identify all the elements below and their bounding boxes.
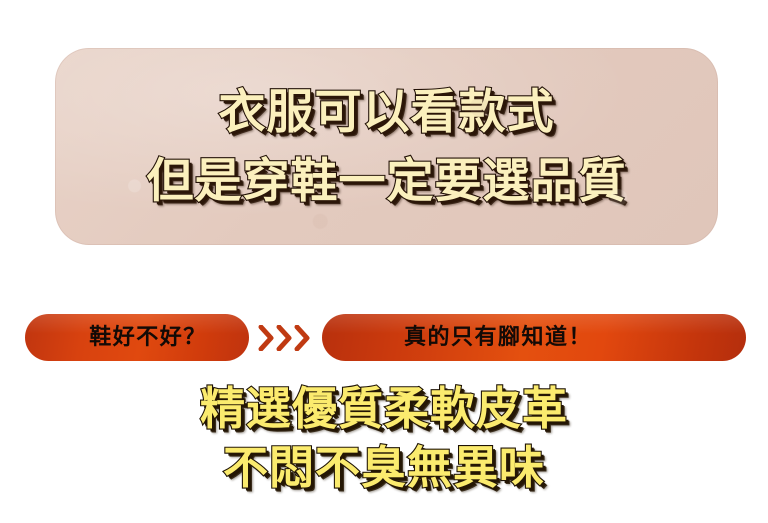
- badge-row: 鞋好不好？ 真的只有腳知道！: [0, 314, 768, 364]
- badge-answer-label: 真的只有腳知道！: [404, 327, 592, 349]
- chevron-right-icon: [294, 325, 311, 351]
- chevron-right-icon: [276, 325, 293, 351]
- footer-text-block: 精選優質柔軟皮革 不悶不臭無異味: [0, 386, 768, 490]
- hero-headline-line-1: 衣服可以看款式: [219, 89, 555, 136]
- hero-panel: 衣服可以看款式 但是穿鞋一定要選品質: [55, 48, 718, 245]
- chevron-arrows-group: [258, 322, 316, 354]
- badge-question: 鞋好不好？: [25, 314, 249, 361]
- badge-question-label: 鞋好不好？: [89, 327, 207, 349]
- hero-headline-line-2: 但是穿鞋一定要選品質: [147, 158, 627, 205]
- badge-answer: 真的只有腳知道！: [322, 314, 746, 361]
- chevron-right-icon: [258, 325, 275, 351]
- hero-text-block: 衣服可以看款式 但是穿鞋一定要選品質: [55, 48, 718, 245]
- promo-banner: 衣服可以看款式 但是穿鞋一定要選品質 鞋好不好？ 真的只有腳知道！ 精選優質柔軟…: [0, 0, 768, 523]
- footer-line-2: 不悶不臭無異味: [223, 445, 545, 490]
- footer-line-1: 精選優質柔軟皮革: [200, 386, 568, 431]
